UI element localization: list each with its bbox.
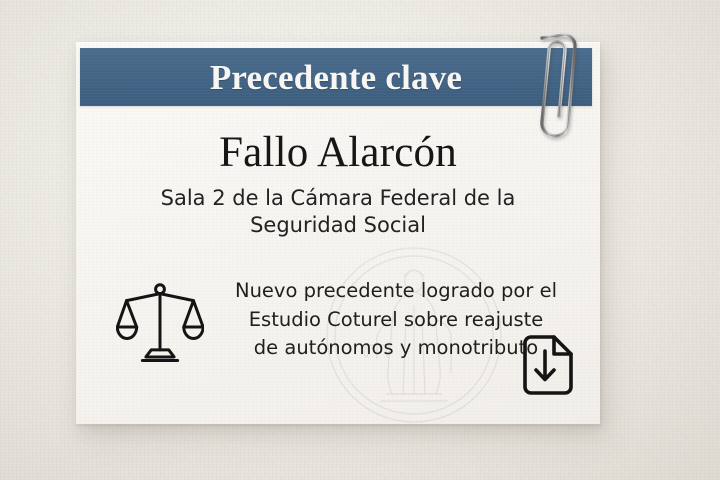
paperclip-icon <box>512 28 588 144</box>
poster-canvas: Precedente clave Fallo Alarcón Sala 2 de… <box>0 0 720 480</box>
banner-title: Precedente clave <box>210 60 462 95</box>
court-subtitle-line-2: Seguridad Social <box>120 212 556 239</box>
court-subtitle-line-1: Sala 2 de la Cámara Federal de la <box>120 185 556 212</box>
court-subtitle: Sala 2 de la Cámara Federal de la Seguri… <box>76 185 600 240</box>
document-download-icon[interactable] <box>520 334 576 396</box>
body-text-line-1: Nuevo precedente logrado por el <box>208 277 584 306</box>
headline-block: Fallo Alarcón Sala 2 de la Cámara Federa… <box>76 130 600 239</box>
body-text-line-2: Estudio Coturel sobre reajuste <box>208 306 584 335</box>
scales-of-justice-icon <box>112 276 208 364</box>
